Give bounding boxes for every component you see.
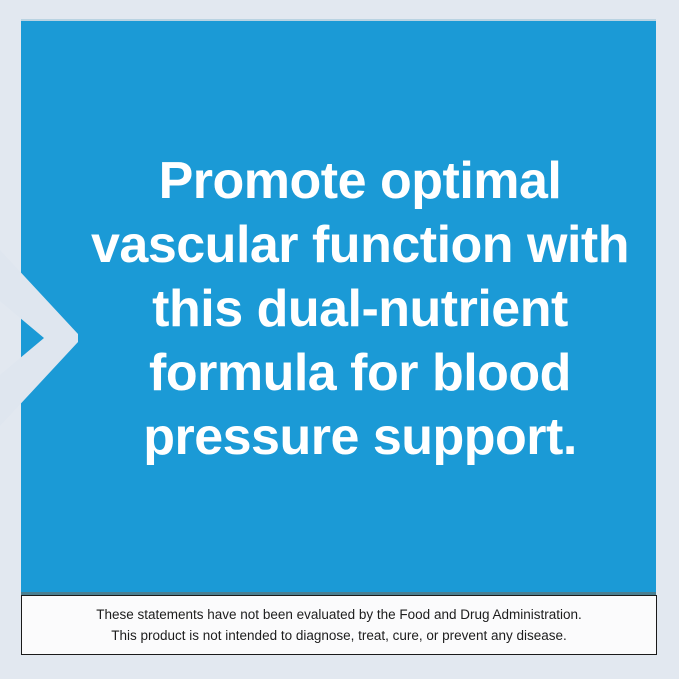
headline-line-1: Promote optimal (61, 149, 659, 213)
headline-line-2: vascular function with (61, 213, 659, 277)
headline-line-5: pressure support. (61, 405, 659, 469)
disclaimer-line-1: These statements have not been evaluated… (96, 604, 582, 625)
disclaimer-line-2: This product is not intended to diagnose… (111, 625, 567, 646)
headline: Promote optimal vascular function with t… (61, 149, 659, 469)
disclaimer-box: These statements have not been evaluated… (21, 595, 657, 655)
headline-line-4: formula for blood (61, 341, 659, 405)
hero-panel: Promote optimal vascular function with t… (21, 21, 656, 594)
product-marketing-image: Promote optimal vascular function with t… (0, 0, 679, 679)
headline-line-3: this dual-nutrient (61, 277, 659, 341)
